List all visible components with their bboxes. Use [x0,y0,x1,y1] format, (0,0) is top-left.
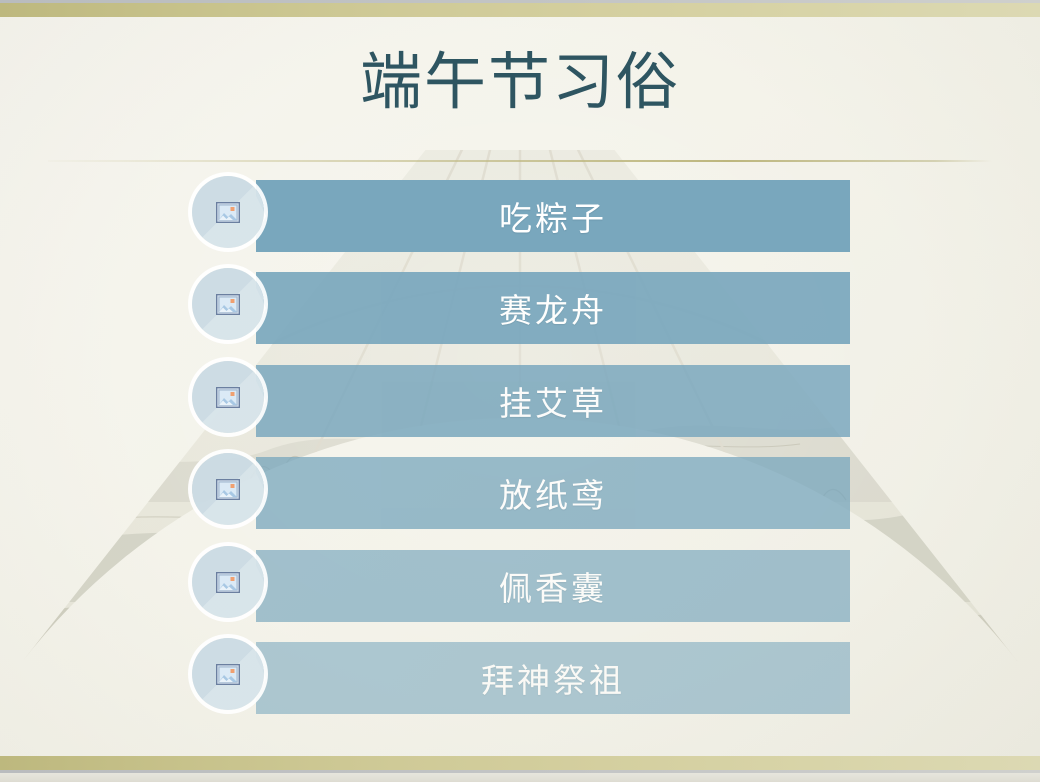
list-item-bar[interactable]: 挂艾草 [256,365,850,437]
list-item-bar[interactable]: 放纸鸢 [256,457,850,529]
picture-icon [216,202,240,223]
title-divider [48,160,992,162]
list-item-label: 吃粽子 [256,180,850,252]
list-item-label: 放纸鸢 [256,457,850,529]
list-item-badge[interactable] [192,638,264,710]
list-item-badge[interactable] [192,361,264,433]
bottom-gold-band [0,756,1040,770]
picture-icon [216,387,240,408]
bottom-band-filler [0,773,1040,782]
list-item[interactable]: 挂艾草 [0,365,1040,437]
list-item-bar[interactable]: 赛龙舟 [256,272,850,344]
list-item[interactable]: 佩香囊 [0,550,1040,622]
list-item[interactable]: 放纸鸢 [0,457,1040,529]
picture-icon [216,294,240,315]
list-item-label: 拜神祭祖 [256,642,850,714]
list-item[interactable]: 赛龙舟 [0,272,1040,344]
list-item-bar[interactable]: 佩香囊 [256,550,850,622]
picture-icon [216,664,240,685]
top-gold-band [0,3,1040,17]
slide-canvas: 端午节习俗 吃粽子 赛龙舟 [0,0,1040,782]
list-item-badge[interactable] [192,546,264,618]
page-title: 端午节习俗 [0,48,1040,116]
list-item-bar[interactable]: 拜神祭祖 [256,642,850,714]
customs-list: 吃粽子 赛龙舟 [0,180,1040,720]
list-item-label: 佩香囊 [256,550,850,622]
picture-icon [216,572,240,593]
list-item[interactable]: 拜神祭祖 [0,642,1040,714]
list-item-badge[interactable] [192,176,264,248]
list-item[interactable]: 吃粽子 [0,180,1040,252]
list-item-badge[interactable] [192,268,264,340]
list-item-bar[interactable]: 吃粽子 [256,180,850,252]
list-item-label: 挂艾草 [256,365,850,437]
picture-icon [216,479,240,500]
list-item-label: 赛龙舟 [256,272,850,344]
list-item-badge[interactable] [192,453,264,525]
